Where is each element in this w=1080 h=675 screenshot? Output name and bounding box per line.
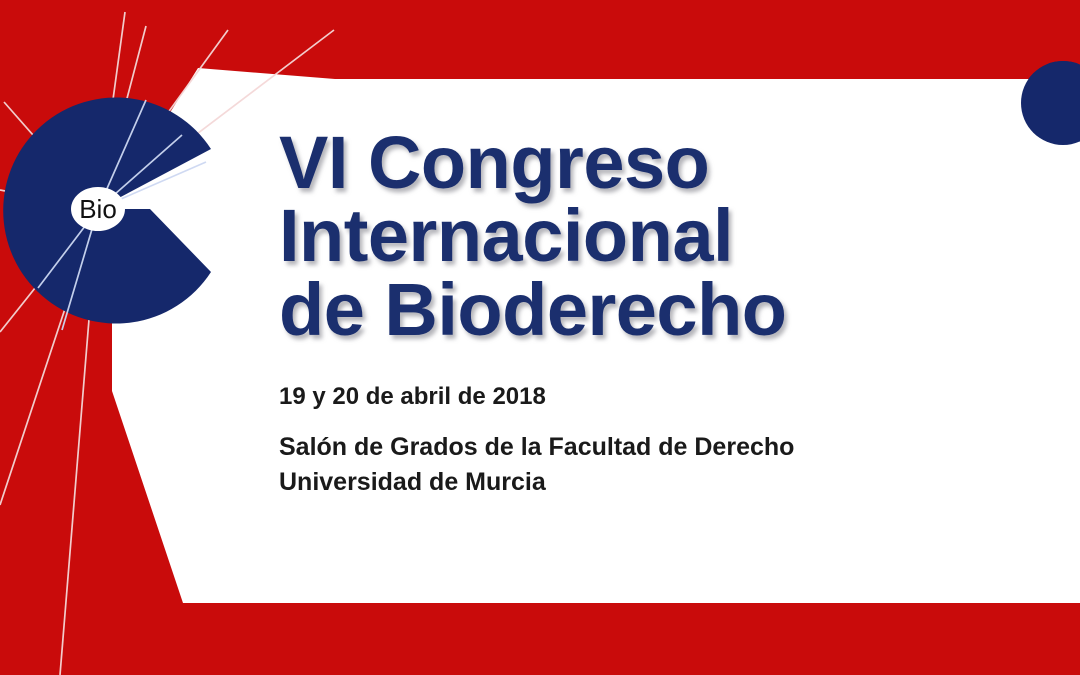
event-date: 19 y 20 de abril de 2018 xyxy=(279,346,1019,410)
poster-canvas: Bio VI Congreso Internacional de Biodere… xyxy=(0,0,1080,675)
event-venue: Salón de Grados de la Facultad de Derech… xyxy=(279,410,1019,499)
bio-node-label: Bio xyxy=(79,194,117,224)
page-title: VI Congreso Internacional de Bioderecho xyxy=(279,126,1019,346)
text-content-block: VI Congreso Internacional de Bioderecho … xyxy=(279,126,1019,499)
